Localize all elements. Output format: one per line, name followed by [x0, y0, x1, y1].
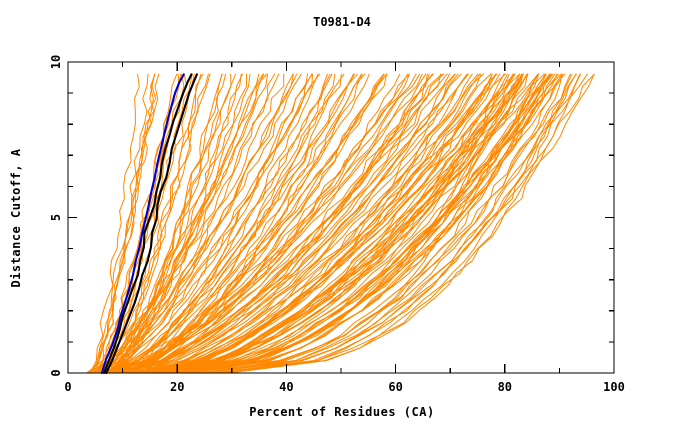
y-axis-label: Distance Cutoff, A	[9, 148, 23, 287]
y-tick-label: 5	[49, 214, 63, 221]
x-tick-label: 80	[498, 380, 512, 394]
x-tick-label: 60	[388, 380, 402, 394]
x-tick-label: 100	[603, 380, 625, 394]
y-tick-label: 0	[49, 369, 63, 376]
x-tick-label: 20	[170, 380, 184, 394]
x-tick-label: 40	[279, 380, 293, 394]
cutoff-vs-residues-plot: T0981-D4 0204060801000510 Percent of Res…	[0, 0, 680, 440]
x-tick-label: 0	[64, 380, 71, 394]
y-tick-label: 10	[49, 55, 63, 69]
x-axis-label: Percent of Residues (CA)	[249, 405, 434, 419]
chart-canvas: T0981-D4 0204060801000510 Percent of Res…	[0, 0, 680, 440]
chart-title: T0981-D4	[313, 15, 371, 29]
